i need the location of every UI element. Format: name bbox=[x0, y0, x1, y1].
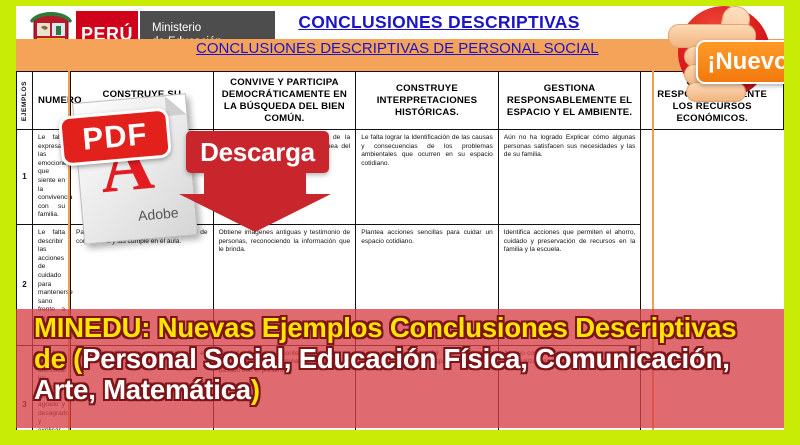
pdf-badge: PDF bbox=[58, 107, 172, 166]
banner-headline: MINEDU: Nuevas Ejemplos Conclusiones Des… bbox=[16, 310, 784, 430]
banner-text-part-3: ) bbox=[251, 374, 260, 405]
cell-economicos: Aún no ha logrado Explicar cómo algunas … bbox=[498, 130, 641, 225]
descarga-button[interactable]: Descarga bbox=[186, 131, 329, 173]
down-arrow-icon-head bbox=[179, 194, 331, 232]
descarga-label: Descarga bbox=[200, 137, 315, 168]
frame-edge-right bbox=[784, 0, 800, 445]
pdf-label: PDF bbox=[81, 116, 149, 158]
document-title-secondary: CONCLUSIONES DESCRIPTIVAS DE PERSONAL SO… bbox=[196, 40, 716, 57]
frame-edge-bottom bbox=[0, 430, 800, 445]
screenshot-root: PERÚ Ministerio de Educación CONCLUSIONE… bbox=[0, 0, 800, 445]
table-header-convive: CONVIVE Y PARTICIPA DEMOCRÁTICAMENTE EN … bbox=[213, 72, 356, 130]
nuevo-badge: ¡Nuevo! bbox=[656, 6, 784, 110]
row-number: 1 bbox=[17, 130, 33, 225]
frame-edge-top bbox=[0, 0, 800, 6]
nuevo-pill: ¡Nuevo! bbox=[696, 40, 784, 84]
document-title-primary: CONCLUSIONES DESCRIPTIVAS bbox=[224, 12, 654, 33]
nuevo-label: ¡Nuevo! bbox=[707, 48, 784, 76]
table-header-ambiente: GESTIONA RESPONSABLEMENTE EL ESPACIO Y E… bbox=[498, 72, 641, 130]
banner-text-part-2: Personal Social, Educación Física, Comun… bbox=[34, 343, 730, 405]
side-label: EJEMPLOS bbox=[19, 80, 31, 120]
down-arrow-icon-stem bbox=[204, 173, 306, 195]
cell-ambiente: Le falta lograr la Identificación de las… bbox=[356, 130, 499, 225]
side-label-cell: EJEMPLOS bbox=[17, 72, 33, 130]
table-header-historicas: CONSTRUYE INTERPRETACIONES HISTÓRICAS. bbox=[356, 72, 499, 130]
frame-edge-left bbox=[0, 0, 16, 445]
hand-finger-4 bbox=[686, 82, 746, 102]
